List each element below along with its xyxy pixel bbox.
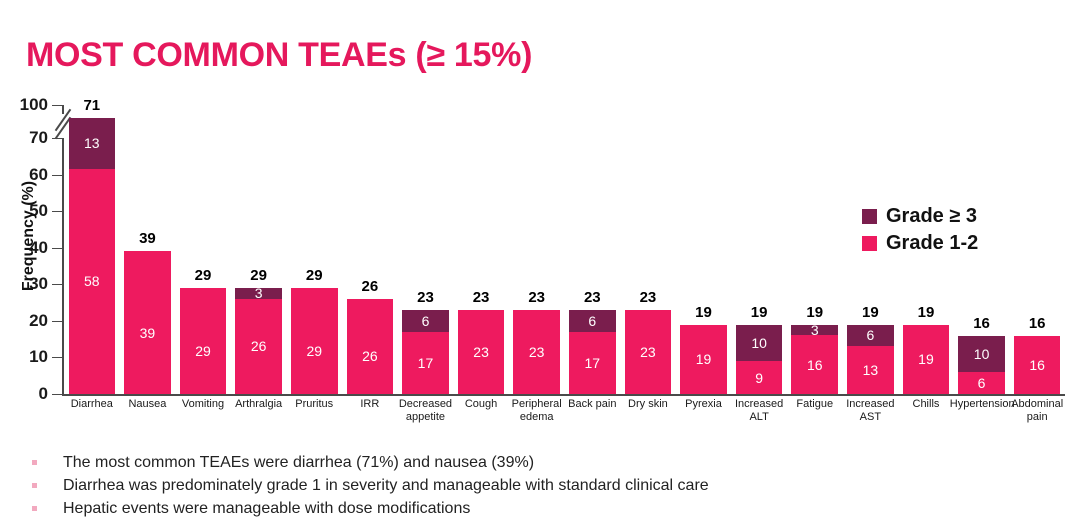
x-axis-label-line: ALT [727,411,791,424]
bar-segment-value: 9 [755,371,763,385]
bar-segment-grade12[interactable]: 23 [625,310,672,394]
x-axis-label-line: AST [839,411,903,424]
bar-column[interactable]: 2323 [458,105,505,394]
x-axis-label-line: edema [505,411,569,424]
x-axis-label-line: Cough [449,398,513,411]
page-title: MOST COMMON TEAEs (≥ 15%) [26,36,532,75]
bar-total-label: 19 [847,304,894,321]
bar-stack[interactable]: 1358 [69,118,116,394]
bar-total-label: 23 [569,289,616,306]
bar-stack[interactable]: 617 [569,310,616,394]
x-axis-label-line: Peripheral [505,398,569,411]
bar-stack[interactable]: 19 [903,325,950,394]
bar-total-label: 23 [625,289,672,306]
x-axis-label-line: Abdominal [1005,398,1069,411]
bar-segment-value: 58 [84,274,100,288]
legend-swatch-icon [862,236,877,251]
bar-total-label: 26 [347,278,394,295]
y-axis-tick [52,357,62,358]
bar-segment-value: 6 [866,328,874,342]
x-axis-label: Dry skin [616,398,680,411]
y-axis-tick-label: 0 [4,384,48,404]
bar-segment-value: 23 [640,345,656,359]
x-axis-label-line: Dry skin [616,398,680,411]
bar-stack[interactable]: 39 [124,251,171,394]
bar-segment-grade12[interactable]: 19 [680,325,727,394]
bar-segment-grade3plus[interactable]: 3 [235,288,282,299]
bullet-item: Diarrhea was predominately grade 1 in se… [30,475,1050,498]
bar-segment-grade12[interactable]: 39 [124,251,171,394]
bar-segment-grade12[interactable]: 23 [513,310,560,394]
bar-segment-value: 29 [195,344,211,358]
bar-column[interactable]: 10919 [736,105,783,394]
x-axis-label: Abdominalpain [1005,398,1069,424]
x-axis-label-line: Vomiting [171,398,235,411]
x-axis-label-line: Back pain [561,398,625,411]
x-axis-label: Nausea [116,398,180,411]
bar-total-label: 29 [291,267,338,284]
x-axis-label-line: IRR [338,398,402,411]
y-axis-tick [52,321,62,322]
bar-total-label: 23 [513,289,560,306]
bar-segment-grade12[interactable]: 13 [847,346,894,394]
bar-column[interactable]: 3939 [124,105,171,394]
bar-column[interactable]: 2626 [347,105,394,394]
x-axis-label: Diarrhea [60,398,124,411]
bar-segment-value: 19 [696,352,712,366]
x-axis-label-line: pain [1005,411,1069,424]
x-axis-label: Fatigue [783,398,847,411]
bullet-item: The most common TEAEs were diarrhea (71%… [30,452,1050,475]
bar-segment-grade3plus[interactable]: 6 [569,310,616,332]
bar-total-label: 29 [235,267,282,284]
bar-total-label: 23 [458,289,505,306]
bar-total-label: 16 [958,315,1005,332]
bar-column[interactable]: 2323 [625,105,672,394]
chart-area: 010203040506070100 Frequency (%) 1358713… [0,92,1080,440]
bar-segment-grade12[interactable]: 19 [903,325,950,394]
bullet-text: The most common TEAEs were diarrhea (71%… [63,452,534,474]
x-axis-label: Back pain [561,398,625,411]
x-axis-label: Peripheraledema [505,398,569,424]
y-axis-tick [52,394,62,395]
bar-stack[interactable]: 617 [402,310,449,394]
y-axis-title: Frequency (%) [20,161,38,311]
bar-segment-value: 16 [807,358,823,372]
bar-stack[interactable]: 23 [458,310,505,394]
bar-column[interactable]: 2929 [291,105,338,394]
bar-segment-value: 16 [1029,358,1045,372]
x-axis-label-line: Chills [894,398,958,411]
x-axis-label-line: Increased [839,398,903,411]
legend-item[interactable]: Grade ≥ 3 [862,205,978,228]
y-axis-tick [52,175,62,176]
bar-column[interactable]: 61723 [569,105,616,394]
y-axis-tick [52,284,62,285]
bar-segment-grade12[interactable]: 16 [1014,336,1061,395]
legend-item-label: Grade ≥ 3 [886,205,977,228]
bar-segment-grade12[interactable]: 29 [180,288,227,394]
bar-segment-value: 26 [251,339,267,353]
bar-segment-grade3plus[interactable]: 10 [958,336,1005,373]
bar-stack[interactable]: 109 [736,325,783,394]
y-axis-tick [52,105,62,106]
x-axis-label-line: Pruritus [282,398,346,411]
x-axis-label: Arthralgia [227,398,291,411]
bar-segment-value: 17 [585,356,601,370]
bar-stack[interactable]: 19 [680,325,727,394]
bar-segment-value: 6 [588,314,596,328]
bar-segment-value: 19 [918,352,934,366]
y-axis-tick-label: 70 [4,128,48,148]
y-axis-tick [52,211,62,212]
bar-total-label: 39 [124,230,171,247]
x-axis-label: Decreasedappetite [394,398,458,424]
bar-segment-value: 10 [974,347,990,361]
bar-segment-grade12[interactable]: 17 [569,332,616,394]
bar-segment-grade3plus[interactable]: 6 [402,310,449,332]
x-axis-label: Vomiting [171,398,235,411]
bar-segment-grade3plus[interactable]: 3 [791,325,838,336]
bar-segment-grade12[interactable]: 16 [791,335,838,394]
bar-segment-value: 29 [306,344,322,358]
bar-segment-value: 10 [751,336,767,350]
x-axis-label: Pruritus [282,398,346,411]
bar-segment-grade12[interactable]: 26 [235,299,282,394]
bar-stack[interactable]: 29 [180,288,227,394]
x-axis-label-line: Hypertension [950,398,1014,411]
y-axis-tick-label: 20 [4,311,48,331]
bar-segment-value: 23 [529,345,545,359]
x-axis-label-line: Arthralgia [227,398,291,411]
bar-segment-value: 6 [978,376,986,390]
bar-stack[interactable]: 16 [1014,336,1061,395]
x-axis-label: Chills [894,398,958,411]
bar-segment-grade12[interactable]: 58 [69,169,116,394]
bar-stack[interactable]: 613 [847,325,894,394]
bar-segment-grade12[interactable]: 6 [958,372,1005,394]
bullet-marker-icon [32,483,37,488]
bullet-text: Hepatic events were manageable with dose… [63,498,470,520]
x-axis-label-line: Increased [727,398,791,411]
legend-item[interactable]: Grade 1-2 [862,232,978,255]
bar-column[interactable]: 32629 [235,105,282,394]
x-axis-label: IncreasedALT [727,398,791,424]
x-axis-label: IRR [338,398,402,411]
bar-segment-value: 26 [362,349,378,363]
bar-segment-grade12[interactable]: 17 [402,332,449,394]
x-axis-line [62,394,1065,396]
bar-total-label: 19 [680,304,727,321]
bar-total-label: 19 [791,304,838,321]
x-axis-label-line: Diarrhea [60,398,124,411]
bar-total-label: 29 [180,267,227,284]
x-axis-label: Hypertension [950,398,1014,411]
chart-legend: Grade ≥ 3Grade 1-2 [862,205,978,259]
bar-segment-grade3plus[interactable]: 10 [736,325,783,362]
bar-segment-grade12[interactable]: 9 [736,361,783,394]
x-axis-label-line: Pyrexia [672,398,736,411]
bar-stack[interactable]: 26 [347,299,394,394]
bullet-list: The most common TEAEs were diarrhea (71%… [30,452,1050,521]
bar-stack[interactable]: 23 [513,310,560,394]
bar-stack[interactable]: 316 [791,325,838,394]
legend-swatch-icon [862,209,877,224]
bar-segment-value: 13 [84,136,100,150]
y-axis-tick [52,248,62,249]
bar-segment-grade12[interactable]: 23 [458,310,505,394]
x-axis-labels: DiarrheaNauseaVomitingArthralgiaPruritus… [64,398,1065,442]
bar-column[interactable]: 31619 [791,105,838,394]
bar-segment-value: 23 [473,345,489,359]
x-axis-label-line: appetite [394,411,458,424]
bar-column[interactable]: 2323 [513,105,560,394]
bar-segment-grade3plus[interactable]: 13 [69,118,116,169]
bar-segment-grade12[interactable]: 26 [347,299,394,394]
x-axis-label: IncreasedAST [839,398,903,424]
bar-segment-value: 13 [863,363,879,377]
bar-segment-value: 17 [418,356,434,370]
bar-total-label: 19 [903,304,950,321]
bullet-marker-icon [32,460,37,465]
x-axis-label-line: Decreased [394,398,458,411]
bar-segment-value: 39 [140,326,156,340]
bar-stack[interactable]: 29 [291,288,338,394]
legend-item-label: Grade 1-2 [886,232,978,255]
bar-segment-grade12[interactable]: 29 [291,288,338,394]
bullet-marker-icon [32,506,37,511]
x-axis-label-line: Nausea [116,398,180,411]
bar-total-label: 19 [736,304,783,321]
bar-total-label: 71 [69,97,116,114]
bar-column[interactable]: 1616 [1014,105,1061,394]
bullet-item: Hepatic events were manageable with dose… [30,498,1050,521]
bar-stack[interactable]: 326 [235,288,282,394]
y-axis-tick-label: 100 [4,95,48,115]
bar-total-label: 23 [402,289,449,306]
bar-total-label: 16 [1014,315,1061,332]
y-axis-tick [52,138,62,139]
bar-column[interactable]: 61723 [402,105,449,394]
bar-segment-value: 6 [422,314,430,328]
x-axis-label: Pyrexia [672,398,736,411]
bar-segment-grade3plus[interactable]: 6 [847,325,894,347]
x-axis-label: Cough [449,398,513,411]
bar-column[interactable]: 135871 [69,105,116,394]
bar-stack[interactable]: 23 [625,310,672,394]
x-axis-label-line: Fatigue [783,398,847,411]
bullet-text: Diarrhea was predominately grade 1 in se… [63,475,709,497]
y-axis-tick-label: 10 [4,347,48,367]
bar-column[interactable]: 1919 [680,105,727,394]
bar-column[interactable]: 2929 [180,105,227,394]
bar-stack[interactable]: 106 [958,336,1005,395]
